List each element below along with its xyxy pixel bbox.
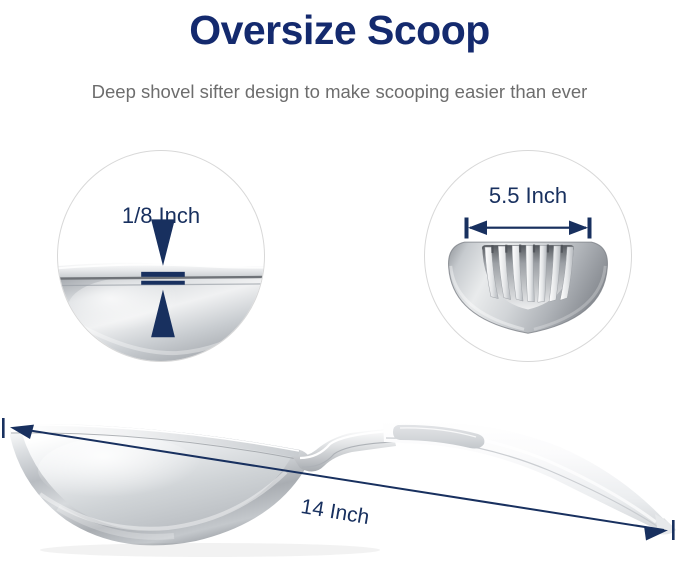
- thickness-dimension-label: 1/8 Inch: [57, 203, 265, 229]
- infographic-page: Oversize Scoop Deep shovel sifter design…: [0, 0, 679, 563]
- callout-width-circle: [424, 150, 632, 362]
- width-dimension-arrow: [424, 210, 632, 244]
- page-title: Oversize Scoop: [0, 6, 679, 54]
- hero-product-image: [0, 398, 679, 563]
- scoop-edge-closeup-illustration: [58, 151, 264, 361]
- width-dimension-label: 5.5 Inch: [424, 183, 632, 209]
- callout-thickness-circle: [57, 150, 265, 362]
- scoop-product-illustration: [0, 398, 679, 563]
- page-subtitle: Deep shovel sifter design to make scoopi…: [0, 80, 679, 104]
